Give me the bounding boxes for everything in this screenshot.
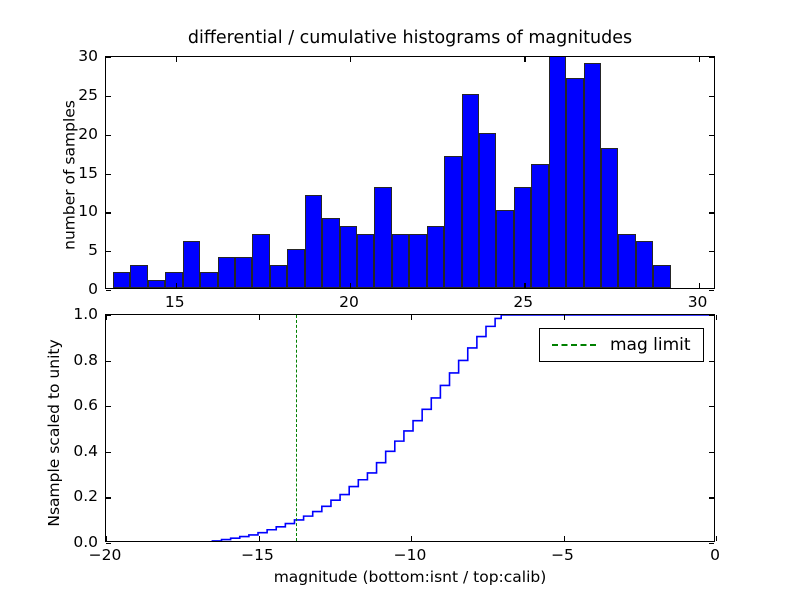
figure-title: differential / cumulative histograms of … [105,28,715,48]
y-tick [709,135,714,136]
histogram-bar [165,272,182,288]
x-tick [350,283,351,288]
x-tick [350,57,351,62]
x-tick-label: −5 [551,546,574,564]
y-tick [709,57,714,58]
x-tick-label: 30 [688,293,708,311]
y-tick [709,497,714,498]
axes-differential-histogram [105,56,715,289]
y-tick [709,212,714,213]
histogram-bar [148,280,165,288]
histogram-bar [636,241,653,288]
y-tick [106,212,111,213]
histogram-bar [200,272,217,288]
y-tick [106,406,111,407]
y-tick [106,251,111,252]
y-tick [709,315,714,316]
histogram-bar [130,265,147,288]
x-tick [716,315,717,320]
x-tick [176,57,177,62]
histogram-bar [235,257,252,288]
histogram-bar [601,148,618,288]
y-tick [106,497,111,498]
histogram-bar [653,265,670,288]
x-tick-label: 25 [513,293,533,311]
y-tick [106,290,111,291]
bottom-y-axis-label: Nsample scaled to unity [45,319,63,547]
x-tick-label: 0 [710,546,720,564]
histogram-bar [113,272,130,288]
histogram-bar [549,57,566,288]
histogram-bar [514,187,531,288]
histogram-bar [218,257,235,288]
y-tick [709,543,714,544]
histogram-bar [270,265,287,288]
histogram-bar [183,241,200,288]
top-y-axis-label: number of samples [61,59,79,292]
histogram-bar [252,234,269,288]
legend-dashed-line-icon [552,344,596,346]
histogram-plot-area [106,57,714,288]
x-tick [259,536,260,541]
y-tick [709,361,714,362]
x-tick-label: 15 [165,293,185,311]
y-tick [106,543,111,544]
y-tick [709,290,714,291]
histogram-bar [357,234,374,288]
y-tick [106,452,111,453]
y-tick [106,57,111,58]
x-tick [411,536,412,541]
histogram-bar [479,133,496,288]
histogram-bar [566,78,583,288]
histogram-bar [392,234,409,288]
histogram-bar [531,164,548,288]
histogram-bar [496,210,513,288]
x-tick-label: −15 [241,546,274,564]
histogram-bar [287,249,304,288]
x-tick [524,57,525,62]
y-tick [106,361,111,362]
y-tick [709,406,714,407]
legend-label-mag-limit: mag limit [610,335,691,355]
x-tick [716,536,717,541]
histogram-bar [409,234,426,288]
mag-limit-vline [296,315,297,541]
y-tick [106,135,111,136]
x-tick [699,283,700,288]
x-tick [524,283,525,288]
histogram-bar [427,226,444,288]
x-tick [176,283,177,288]
legend[interactable]: mag limit [539,328,704,362]
y-tick [106,315,111,316]
y-tick [709,452,714,453]
x-tick-label: 20 [339,293,359,311]
matplotlib-figure: differential / cumulative histograms of … [0,0,800,600]
y-tick [106,96,111,97]
histogram-bar [618,234,635,288]
histogram-bar [305,195,322,288]
x-tick [564,315,565,320]
histogram-bar [374,187,391,288]
histogram-bar [462,94,479,288]
y-tick [709,251,714,252]
y-tick [709,96,714,97]
y-tick [106,174,111,175]
x-tick [411,315,412,320]
histogram-bar [322,218,339,288]
histogram-bar [340,226,357,288]
histogram-bar [444,156,461,288]
x-tick [259,315,260,320]
histogram-bar [584,63,601,288]
x-tick [106,536,107,541]
x-tick-label: −10 [394,546,427,564]
x-tick [564,536,565,541]
x-tick [699,57,700,62]
x-axis-label: magnitude (bottom:isnt / top:calib) [105,568,715,586]
y-tick [709,174,714,175]
